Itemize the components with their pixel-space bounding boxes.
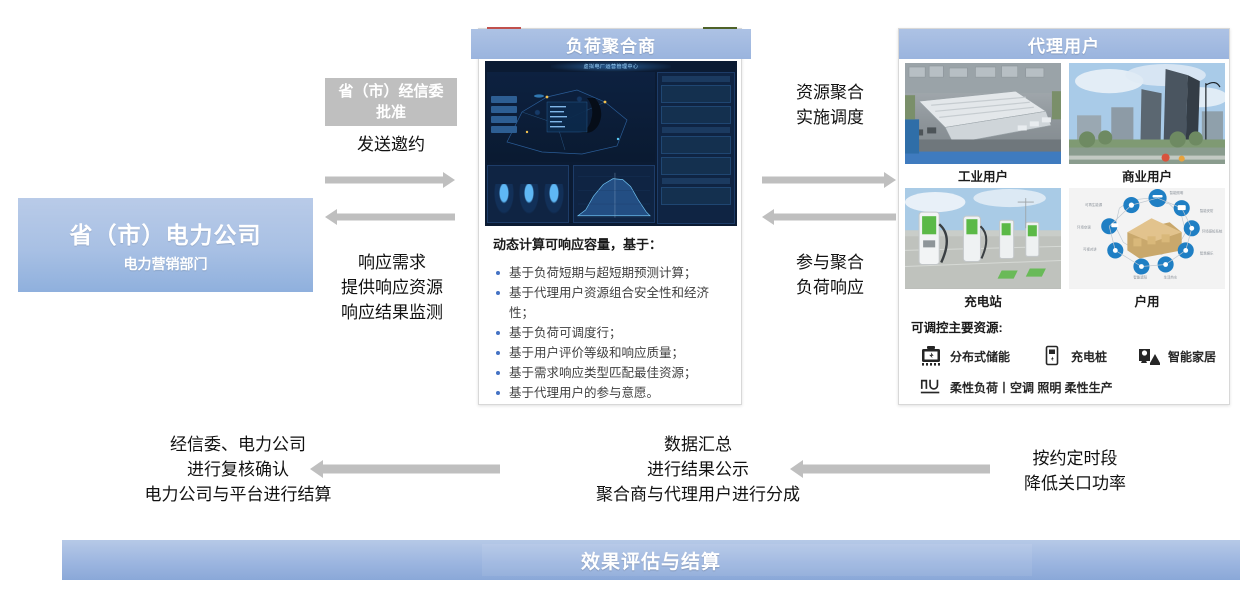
vpp-dashboard-screenshot[interactable]: 虚拟电厂运营管理中心 [485, 61, 737, 226]
approval-badge: 省（市）经信委 批准 [325, 78, 457, 126]
header-tick-left [487, 27, 521, 29]
banner-sheen [482, 544, 1032, 576]
battery-storage-icon [919, 345, 943, 367]
aggregator-header-title: 负荷聚合商 [471, 29, 751, 59]
list-item: 基于用户评价等级和响应质量； [493, 343, 727, 363]
dashboard-title: 虚拟电厂运营管理中心 [485, 63, 737, 70]
charging-pile-icon [1040, 345, 1064, 367]
svg-text:智能照明: 智能照明 [1170, 190, 1184, 195]
svg-text:智慧娱乐: 智慧娱乐 [1200, 250, 1214, 255]
photo-caption-industrial: 工业用户 [905, 164, 1061, 186]
dashboard-side-list [657, 72, 735, 224]
resource-item-storage: 分布式储能 [919, 345, 1010, 367]
dashboard-metric-cards [487, 165, 569, 223]
aggregator-panel: 负荷聚合商 虚拟电厂运营管理中心 [478, 28, 742, 405]
smart-home-icon [1137, 345, 1161, 367]
participate-aggregation-label: 参与聚合 负荷响应 [760, 250, 900, 300]
arrow-utility-to-aggregator [325, 172, 455, 188]
arrow-aggregator-to-utility [325, 209, 455, 225]
resource-label-charging-pile: 充电桩 [1071, 348, 1107, 365]
list-item: 基于需求响应类型匹配最佳资源； [493, 363, 727, 383]
arrow-agent-to-aggregator [762, 209, 896, 225]
resource-row-1: 分布式储能 充电桩 [911, 345, 1217, 367]
approval-badge-line1: 省（市）经信委 [338, 81, 443, 102]
arrow-agent-to-summary [790, 460, 990, 478]
resource-aggregate-label: 资源聚合 实施调度 [760, 80, 900, 130]
agent-header-title: 代理用户 [899, 29, 1229, 59]
dynamic-capacity-title: 动态计算可响应容量，基于： [493, 234, 727, 253]
bottom-banner: 效果评估与结算 [62, 540, 1240, 580]
dynamic-capacity-block: 动态计算可响应容量，基于： 基于负荷短期与超短期预测计算； 基于代理用户资源组合… [479, 234, 741, 403]
diagram-canvas: 省（市）电力公司 电力营销部门 省（市）经信委 批准 发送邀约 响应需求 提供响… [0, 0, 1259, 597]
resource-label-flexible-load: 柔性负荷丨空调 照明 柔性生产 [950, 379, 1113, 396]
approval-badge-line2: 批准 [376, 102, 406, 123]
arrow-summary-to-settlement [310, 460, 500, 478]
aggregator-header-wrap: 负荷聚合商 [471, 29, 751, 59]
list-item: 基于负荷短期与超短期预测计算； [493, 263, 727, 283]
resource-row-2: 柔性负荷丨空调 照明 柔性生产 [911, 376, 1217, 398]
smart-home-diagram-photo: 可再生能源智能照明 智能安防环境感知系统 智慧娱乐生活热水 智能遮阳可视对讲 环… [1069, 188, 1225, 289]
svg-text:可视对讲: 可视对讲 [1083, 246, 1097, 251]
agent-users-panel: 代理用户 [898, 28, 1230, 405]
photo-cell-charging: 充电站 [905, 188, 1061, 311]
response-demand-label: 响应需求 提供响应资源 响应结果监测 [312, 250, 472, 325]
photo-caption-home: 户用 [1069, 289, 1225, 311]
photo-caption-commercial: 商业用户 [1069, 164, 1225, 186]
photo-cell-commercial: 商业用户 [1069, 63, 1225, 186]
svg-text:环境感知系统: 环境感知系统 [1202, 228, 1223, 233]
svg-text:环境空调: 环境空调 [1077, 224, 1091, 229]
controllable-resources-block: 可调控主要资源: [899, 317, 1229, 407]
agent-header-wrap: 代理用户 [899, 29, 1229, 59]
utility-company-box: 省（市）电力公司 电力营销部门 [18, 198, 313, 292]
photo-cell-home: 可再生能源智能照明 智能安防环境感知系统 智慧娱乐生活热水 智能遮阳可视对讲 环… [1069, 188, 1225, 311]
list-item: 基于代理用户的参与意愿。 [493, 383, 727, 403]
photo-cell-industrial: 工业用户 [905, 63, 1061, 186]
resource-item-charging-pile: 充电桩 [1040, 345, 1107, 367]
svg-text:可再生能源: 可再生能源 [1085, 202, 1103, 207]
charging-station-photo [905, 188, 1061, 289]
flexible-load-icon [919, 376, 943, 398]
svg-text:智能遮阳: 智能遮阳 [1133, 275, 1147, 280]
resource-label-storage: 分布式储能 [950, 348, 1010, 365]
svg-text:生活热水: 生活热水 [1164, 275, 1178, 280]
header-tick-right [703, 27, 737, 29]
industrial-plant-photo [905, 63, 1061, 164]
dashboard-load-curve [573, 165, 655, 223]
utility-company-title: 省（市）电力公司 [70, 216, 262, 250]
reduce-power-label: 按约定时段 降低关口功率 [975, 446, 1175, 496]
resource-label-smart-home: 智能家居 [1168, 348, 1216, 365]
resource-item-flexible-load: 柔性负荷丨空调 照明 柔性生产 [919, 376, 1113, 398]
commercial-buildings-photo [1069, 63, 1225, 164]
controllable-resources-title: 可调控主要资源: [911, 317, 1217, 336]
dynamic-capacity-list: 基于负荷短期与超短期预测计算； 基于代理用户资源组合安全性和经济性； 基于负荷可… [493, 263, 727, 403]
svg-text:智能安防: 智能安防 [1200, 208, 1214, 213]
utility-company-subtitle: 电力营销部门 [124, 254, 208, 274]
list-item: 基于代理用户资源组合安全性和经济性； [493, 283, 727, 323]
invite-label: 发送邀约 [325, 132, 457, 157]
photo-caption-charging: 充电站 [905, 289, 1061, 311]
list-item: 基于负荷可调度行； [493, 323, 727, 343]
resource-item-smart-home: 智能家居 [1137, 345, 1216, 367]
dashboard-map [487, 72, 655, 162]
agent-user-photo-grid: 工业用户 [905, 63, 1225, 311]
arrow-aggregator-to-agent [762, 172, 896, 188]
